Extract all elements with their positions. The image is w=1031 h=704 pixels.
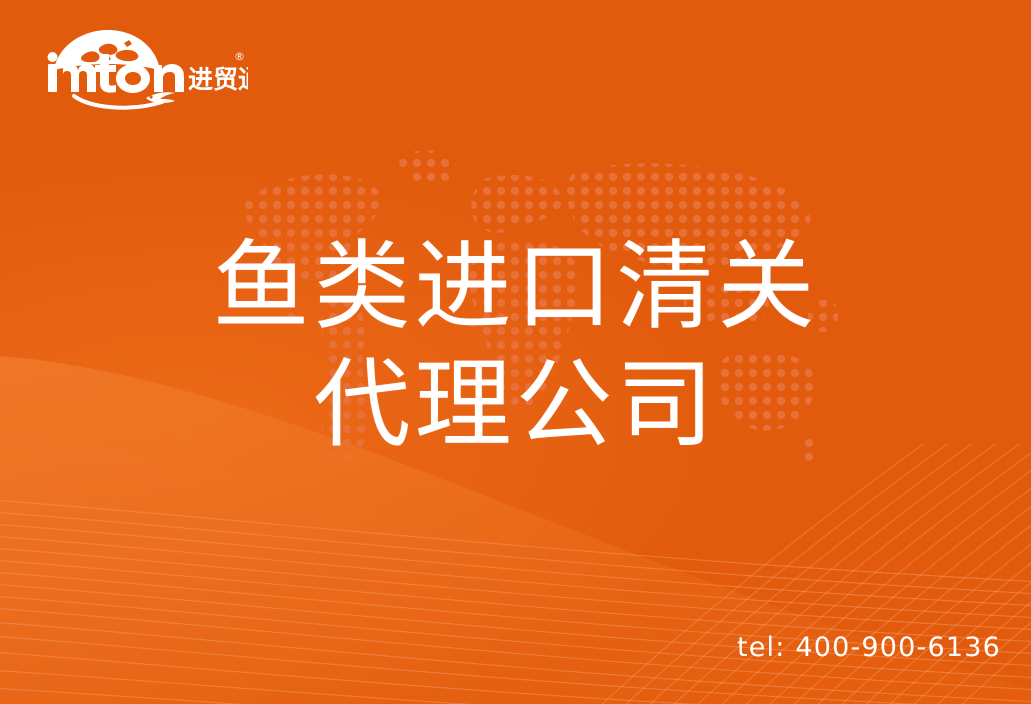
- headline-line-2: 代理公司: [0, 346, 1031, 464]
- curved-line-pattern: [0, 444, 1031, 704]
- logo-chinese-name: 进贸通: [188, 65, 248, 94]
- logo-trademark-symbol: ®: [234, 50, 245, 63]
- headline-block: 鱼类进口清关 代理公司: [0, 228, 1031, 464]
- headline-line-1: 鱼类进口清关: [0, 228, 1031, 346]
- contact-phone[interactable]: tel: 400-900-6136: [737, 632, 1001, 663]
- promotional-banner: 进贸通 ® 鱼类进口清关 代理公司 tel: 400-900-6136: [0, 0, 1031, 704]
- imton-logo[interactable]: 进贸通 ®: [38, 26, 248, 110]
